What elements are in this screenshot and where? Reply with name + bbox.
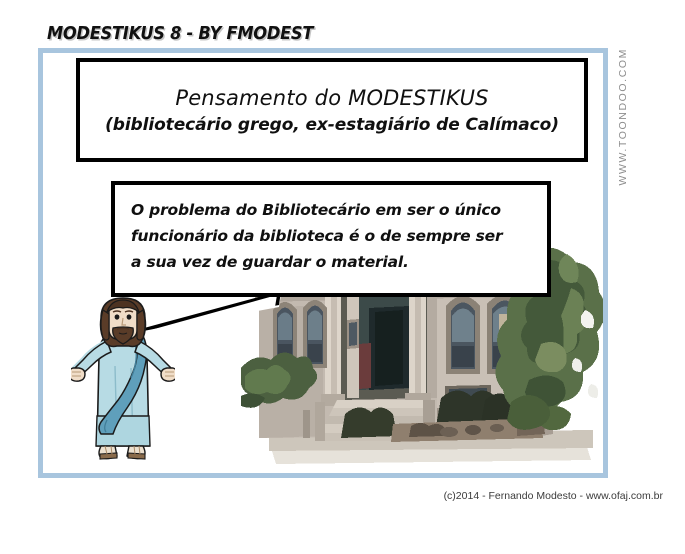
- toondoo-watermark: WWW.TOONDOO.COM: [612, 48, 634, 238]
- toondoo-watermark-text: WWW.TOONDOO.COM: [617, 48, 629, 186]
- footer-credit: (c)2014 - Fernando Modesto - www.ofaj.co…: [444, 490, 663, 502]
- character-modestikus: [71, 296, 175, 469]
- speech-balloon-text: O problema do Bibliotecário em ser o úni…: [131, 198, 547, 276]
- comic-panel-inner: Pensamento do MODESTIKUS (bibliotecário …: [43, 53, 603, 473]
- comic-panel-frame: Pensamento do MODESTIKUS (bibliotecário …: [38, 48, 608, 478]
- speech-balloon: O problema do Bibliotecário em ser o úni…: [111, 181, 551, 297]
- comic-strip-title: MODESTIKUS 8 - BY FMODEST: [47, 24, 313, 44]
- caption-line-1: Pensamento do MODESTIKUS: [175, 86, 488, 110]
- caption-line-2: (bibliotecário grego, ex-estagiário de C…: [105, 115, 559, 135]
- caption-box: Pensamento do MODESTIKUS (bibliotecário …: [76, 58, 588, 162]
